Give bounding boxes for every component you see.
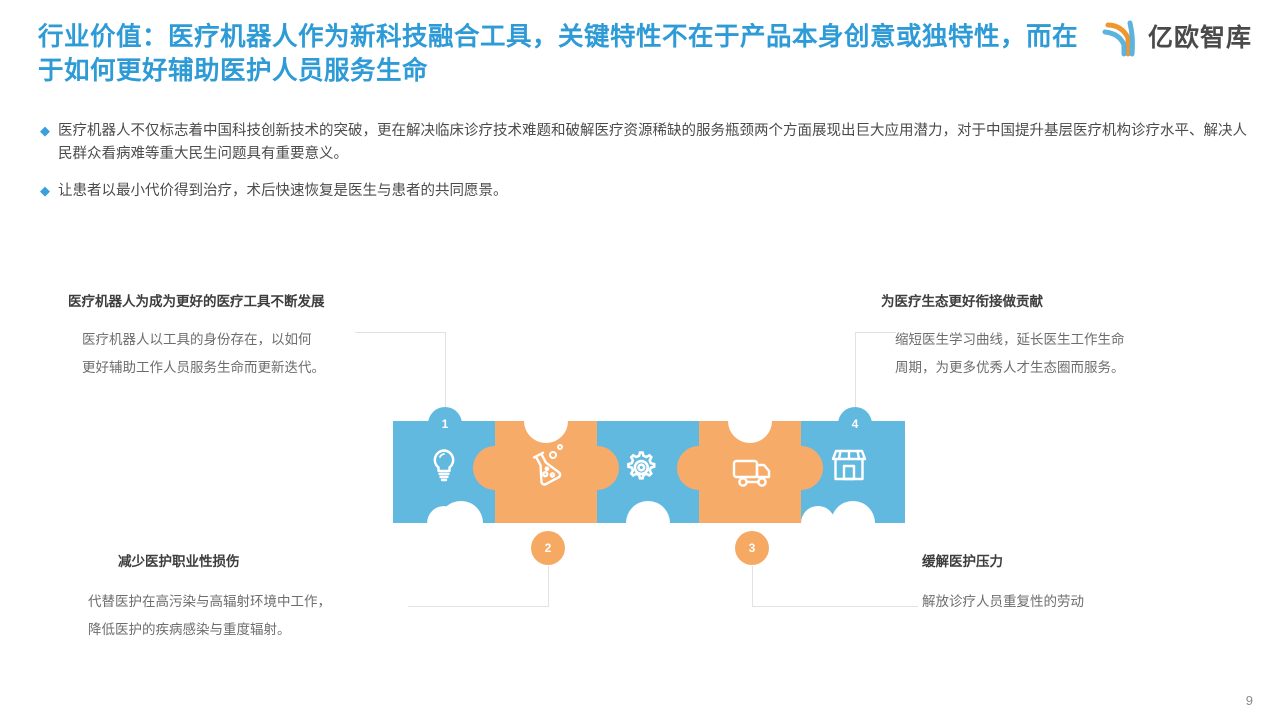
puzzle-knob: [779, 446, 823, 490]
badge-number: 2: [545, 541, 552, 555]
connector-line-1: [355, 332, 446, 421]
yiou-brand-mark-icon: [1102, 18, 1144, 58]
label-block-bottom-right: 缓解医护压力 解放诊疗人员重复性的劳动: [922, 550, 1084, 616]
bullet-text: 医疗机器人不仅标志着中国科技创新技术的突破，更在解决临床诊疗技术难题和破解医疗资…: [58, 120, 1250, 166]
slide-root: 行业价值：医疗机器人作为新科技融合工具，关键特性不在于产品本身创意或独特性，而在…: [0, 0, 1280, 720]
label-block-top-left: 医疗机器人为成为更好的医疗工具不断发展 医疗机器人以工具的身份存在，以如何 更好…: [68, 290, 325, 382]
label-line-2: 更好辅助工作人员服务生命而更新迭代。: [82, 354, 325, 382]
puzzle-knob: [473, 446, 517, 490]
badge-2: 2: [531, 531, 565, 565]
connector-line-3: [752, 566, 918, 607]
badge-3: 3: [735, 531, 769, 565]
label-line-1: 缩短医生学习曲线，延长医生工作生命: [895, 326, 1125, 354]
connector-line-2: [408, 566, 549, 607]
page-title: 行业价值：医疗机器人作为新科技融合工具，关键特性不在于产品本身创意或独特性，而在…: [38, 20, 1078, 88]
puzzle-knob: [575, 446, 619, 490]
label-line-1: 解放诊疗人员重复性的劳动: [922, 588, 1084, 616]
badge-number: 4: [852, 417, 859, 431]
label-heading: 医疗机器人为成为更好的医疗工具不断发展: [68, 290, 325, 310]
list-item: ◆ 让患者以最小代价得到治疗，术后快速恢复是医生与患者的共同愿景。: [40, 180, 1250, 203]
label-line-1: 代替医护在高污染与高辐射环境中工作，: [88, 588, 331, 616]
brand-logo: 亿欧智库: [1102, 18, 1252, 58]
diamond-bullet-icon: ◆: [40, 120, 50, 142]
bullet-text: 让患者以最小代价得到治疗，术后快速恢复是医生与患者的共同愿景。: [58, 180, 508, 203]
diamond-bullet-icon: ◆: [40, 180, 50, 202]
page-number: 9: [1246, 693, 1253, 708]
puzzle-diagram: 医疗机器人为成为更好的医疗工具不断发展 医疗机器人以工具的身份存在，以如何 更好…: [0, 270, 1280, 670]
logo-text: 亿欧智库: [1148, 18, 1252, 58]
label-line-2: 周期，为更多优秀人才生态圈而服务。: [895, 354, 1125, 382]
label-heading: 缓解医护压力: [922, 550, 1084, 570]
label-line-2: 降低医护的疾病感染与重度辐射。: [88, 616, 331, 644]
puzzle-knob: [677, 446, 721, 490]
label-block-top-right: 为医疗生态更好衔接做贡献 缩短医生学习曲线，延长医生工作生命 周期，为更多优秀人…: [881, 290, 1125, 382]
label-heading: 减少医护职业性损伤: [118, 550, 331, 570]
bullet-list: ◆ 医疗机器人不仅标志着中国科技创新技术的突破，更在解决临床诊疗技术难题和破解医…: [40, 120, 1250, 217]
badge-number: 3: [749, 541, 756, 555]
badge-1: 1: [428, 407, 462, 441]
list-item: ◆ 医疗机器人不仅标志着中国科技创新技术的突破，更在解决临床诊疗技术难题和破解医…: [40, 120, 1250, 166]
puzzle-strip: [393, 421, 905, 523]
badge-number: 1: [442, 417, 449, 431]
label-line-1: 医疗机器人以工具的身份存在，以如何: [82, 326, 325, 354]
badge-4: 4: [838, 407, 872, 441]
label-heading: 为医疗生态更好衔接做贡献: [881, 290, 1125, 310]
label-block-bottom-left: 减少医护职业性损伤 代替医护在高污染与高辐射环境中工作， 降低医护的疾病感染与重…: [118, 550, 331, 644]
